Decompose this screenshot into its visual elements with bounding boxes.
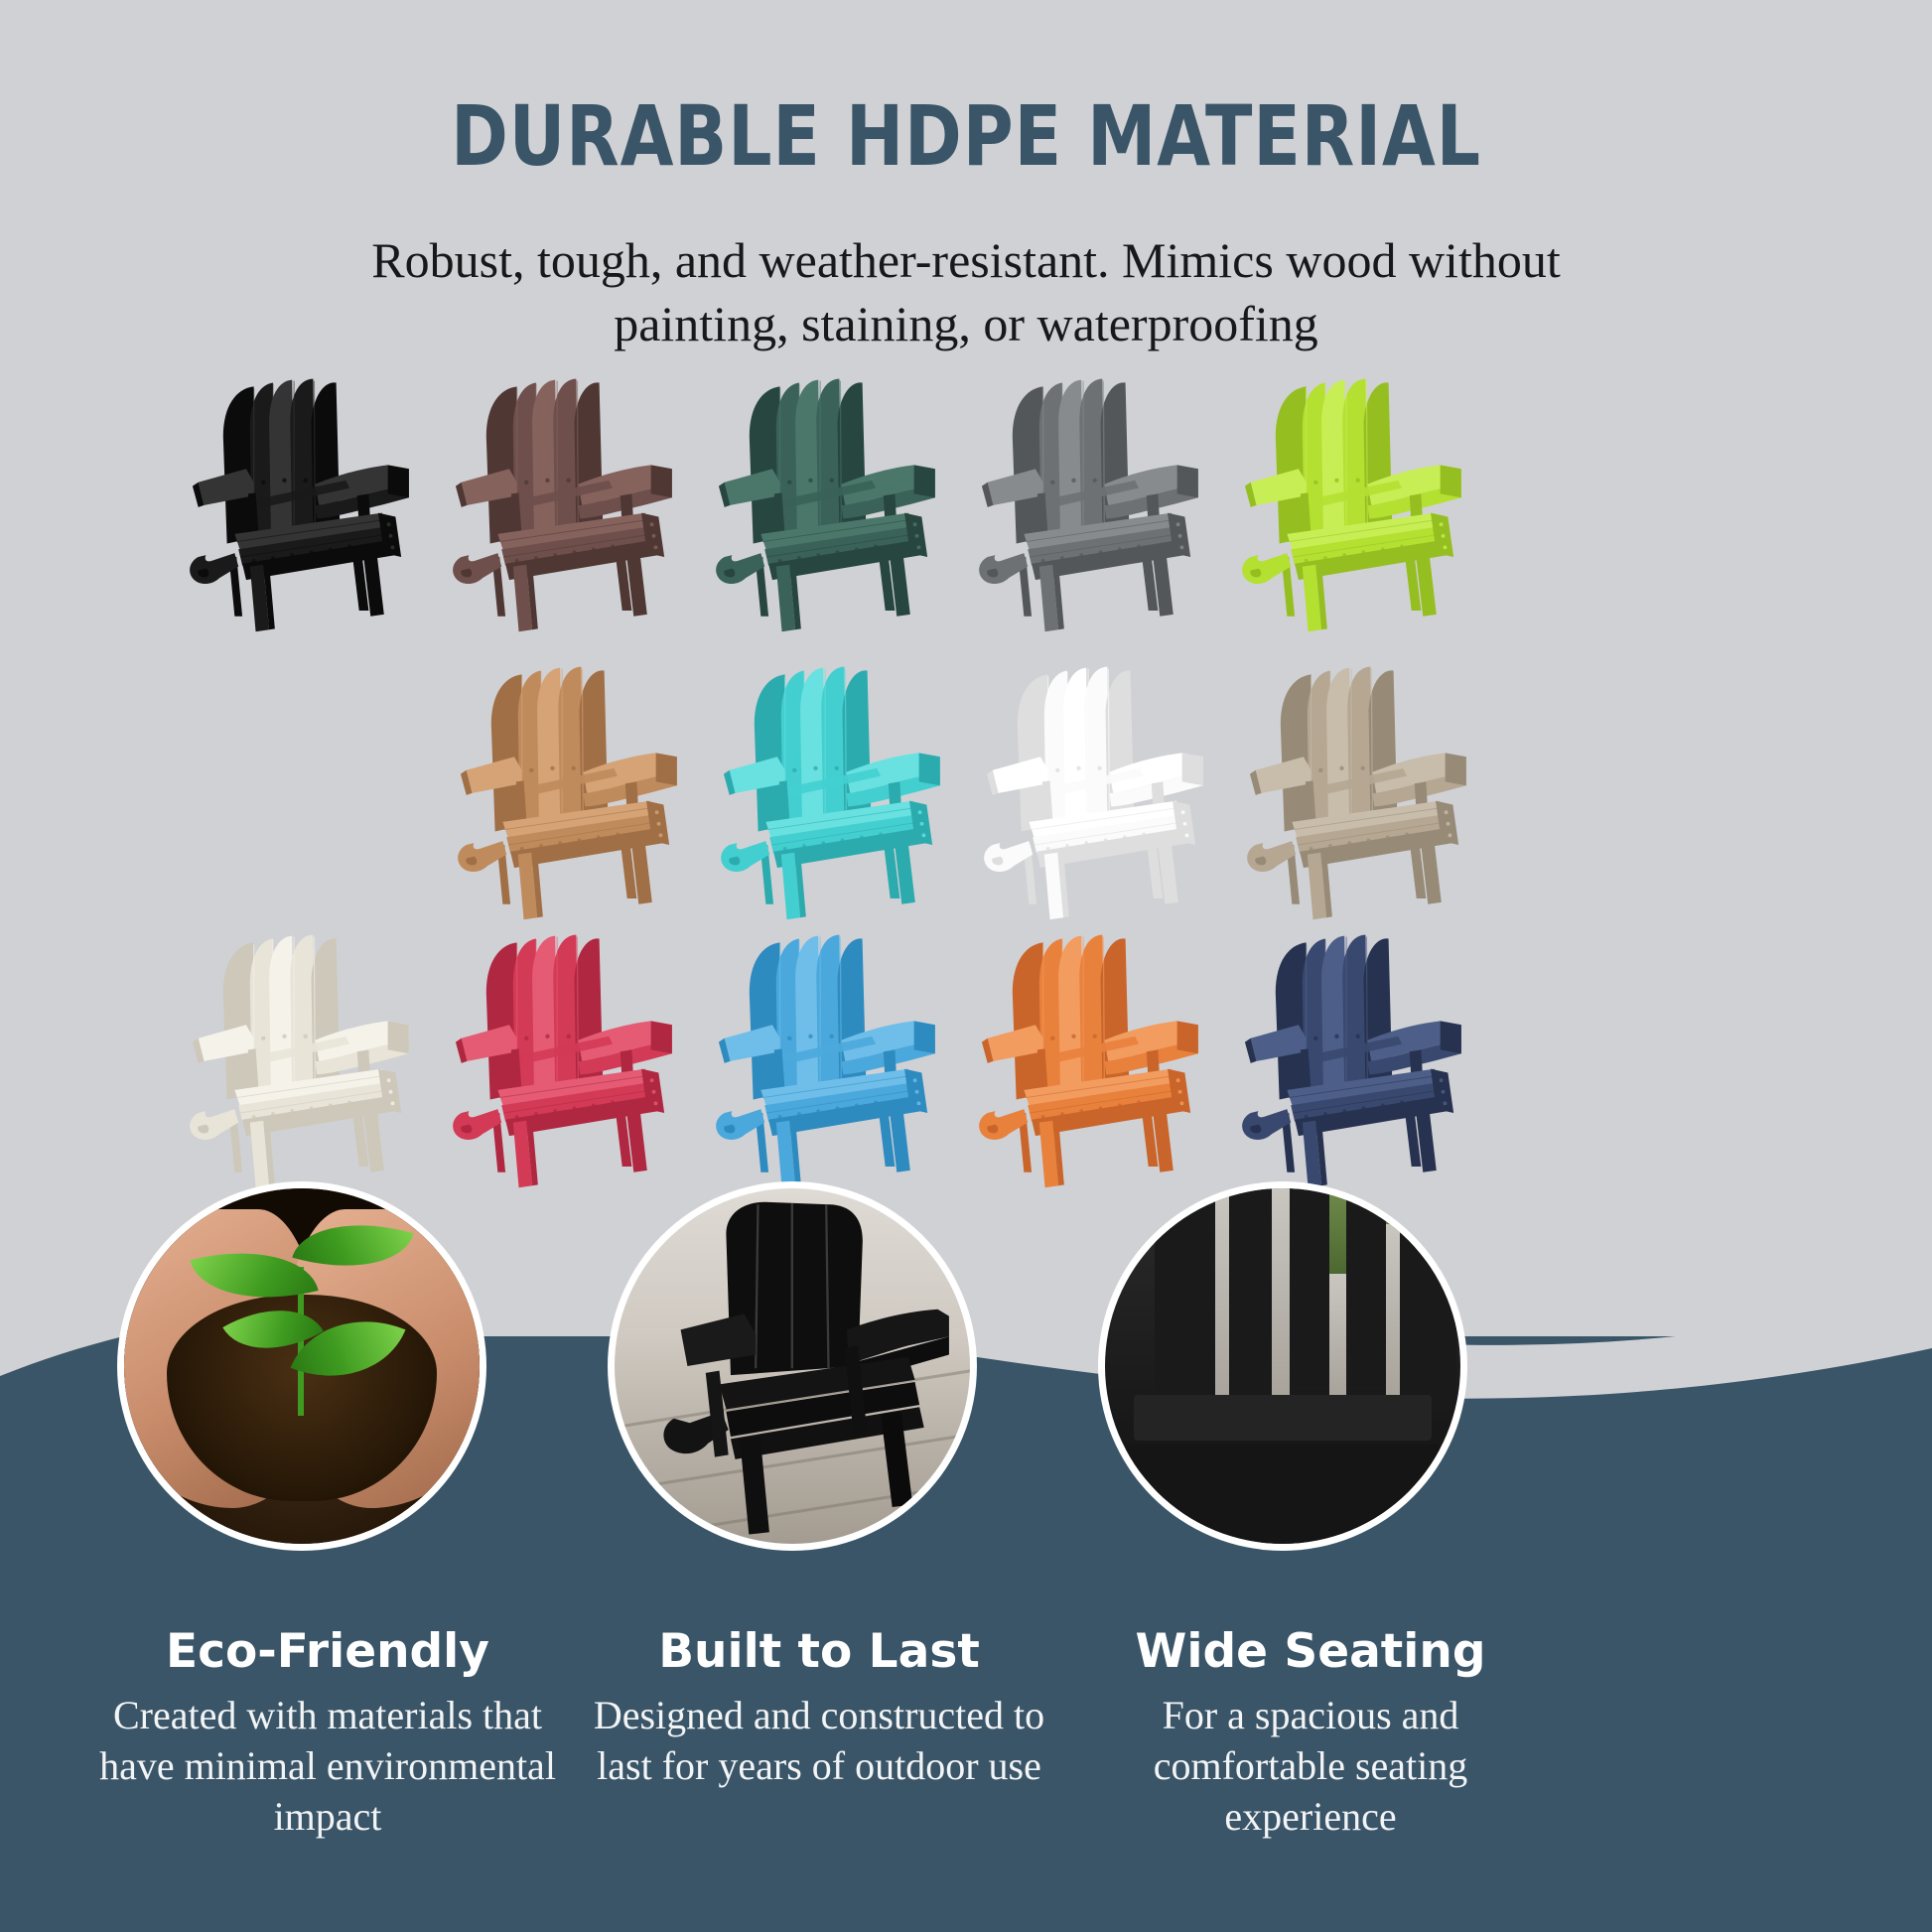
chair-orange[interactable] (938, 925, 1236, 1193)
chair-row-3 (0, 925, 1932, 1193)
background-gap-3 (1329, 1274, 1347, 1395)
page-title: DURABLE HDPE MATERIAL (77, 87, 1855, 185)
caption-built-to-last: Built to Last Designed and constructed t… (581, 1624, 1057, 1792)
chair-gray[interactable] (938, 369, 1236, 637)
caption-title-eco-friendly: Eco-Friendly (89, 1624, 566, 1679)
chair-row-1 (0, 369, 1932, 637)
caption-title-wide-seating: Wide Seating (1072, 1624, 1549, 1679)
chair-color-grid (0, 369, 1932, 1243)
chair-seat-plank (1134, 1395, 1433, 1442)
caption-body-built-to-last: Designed and constructed to last for yea… (581, 1691, 1057, 1792)
chair-row-2 (0, 657, 1932, 925)
chair-navy-blue[interactable] (1201, 925, 1499, 1193)
page-subtitle: Robust, tough, and weather-resistant. Mi… (291, 228, 1641, 355)
chair-black[interactable] (149, 369, 447, 637)
chair-back-slat-5 (1400, 1188, 1456, 1402)
caption-title-built-to-last: Built to Last (581, 1624, 1057, 1679)
chair-white[interactable] (943, 657, 1241, 925)
feature-circle-built-to-last[interactable] (608, 1181, 977, 1551)
chair-brown[interactable] (412, 369, 710, 637)
chair-light-blue[interactable] (675, 925, 973, 1193)
chair-dark-green[interactable] (675, 369, 973, 637)
chair-ivory[interactable] (149, 925, 447, 1193)
black-chair-photo-subject (621, 1188, 963, 1544)
black-chair-seat-closeup-photo (1105, 1188, 1460, 1544)
chair-teak[interactable] (417, 657, 715, 925)
chair-turquoise[interactable] (680, 657, 978, 925)
background-gap-2 (1272, 1188, 1290, 1395)
feature-circle-eco-friendly[interactable] (117, 1181, 486, 1551)
caption-wide-seating: Wide Seating For a spacious and comforta… (1072, 1624, 1549, 1842)
black-chair-on-patio-photo (615, 1188, 970, 1544)
chair-red[interactable] (412, 925, 710, 1193)
chair-seat-front-edge (1126, 1445, 1439, 1544)
caption-body-eco-friendly: Created with materials that have minimal… (89, 1691, 566, 1842)
chair-lime-green[interactable] (1201, 369, 1499, 637)
caption-body-wide-seating: For a spacious and comfortable seating e… (1072, 1691, 1549, 1842)
chair-back-slat-4 (1346, 1188, 1385, 1387)
chair-back-slat-3 (1290, 1188, 1328, 1387)
feature-circle-wide-seating[interactable] (1098, 1181, 1467, 1551)
chair-back-slat-2 (1229, 1188, 1272, 1395)
caption-eco-friendly: Eco-Friendly Created with materials that… (89, 1624, 566, 1842)
chair-back-slat-1 (1155, 1188, 1215, 1402)
background-gap-4 (1386, 1224, 1400, 1395)
hands-holding-seedling-photo (124, 1188, 480, 1544)
chair-khaki[interactable] (1206, 657, 1504, 925)
